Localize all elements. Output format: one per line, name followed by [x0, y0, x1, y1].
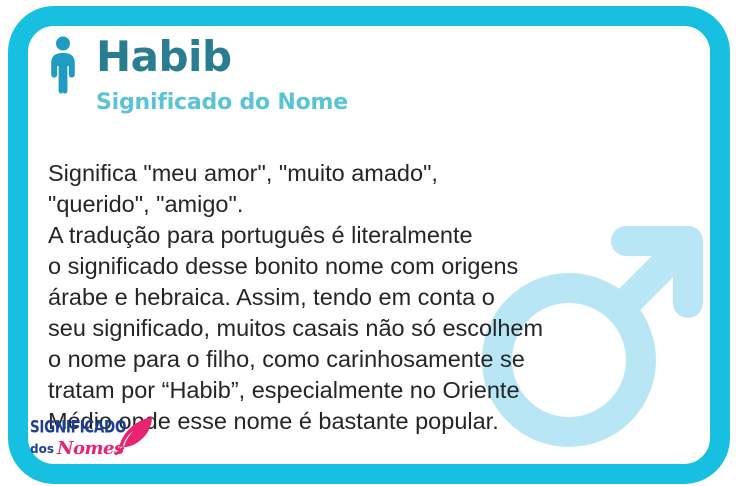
- title-block: Habib Significado do Nome: [96, 36, 348, 114]
- name-meaning-text: Significa "meu amor", "muito amado", "qu…: [48, 158, 648, 437]
- brand-logo[interactable]: SIGNIFICADO dosNomes: [30, 412, 150, 466]
- card-content: Habib Significado do Nome Significa "meu…: [0, 0, 736, 486]
- brand-line-significado: SIGNIFICADO: [30, 420, 126, 437]
- brand-logo-text: SIGNIFICADO dosNomes: [30, 420, 126, 458]
- brand-word-dos: dos: [30, 442, 54, 456]
- male-person-icon: [48, 36, 78, 94]
- name-meaning-card: Habib Significado do Nome Significa "meu…: [0, 0, 736, 486]
- card-header: Habib Significado do Nome: [48, 36, 348, 114]
- page-title: Habib: [96, 36, 348, 78]
- feather-quill-icon: [114, 414, 156, 456]
- page-subtitle: Significado do Nome: [96, 78, 348, 114]
- brand-line-dos-nomes: dosNomes: [30, 440, 126, 458]
